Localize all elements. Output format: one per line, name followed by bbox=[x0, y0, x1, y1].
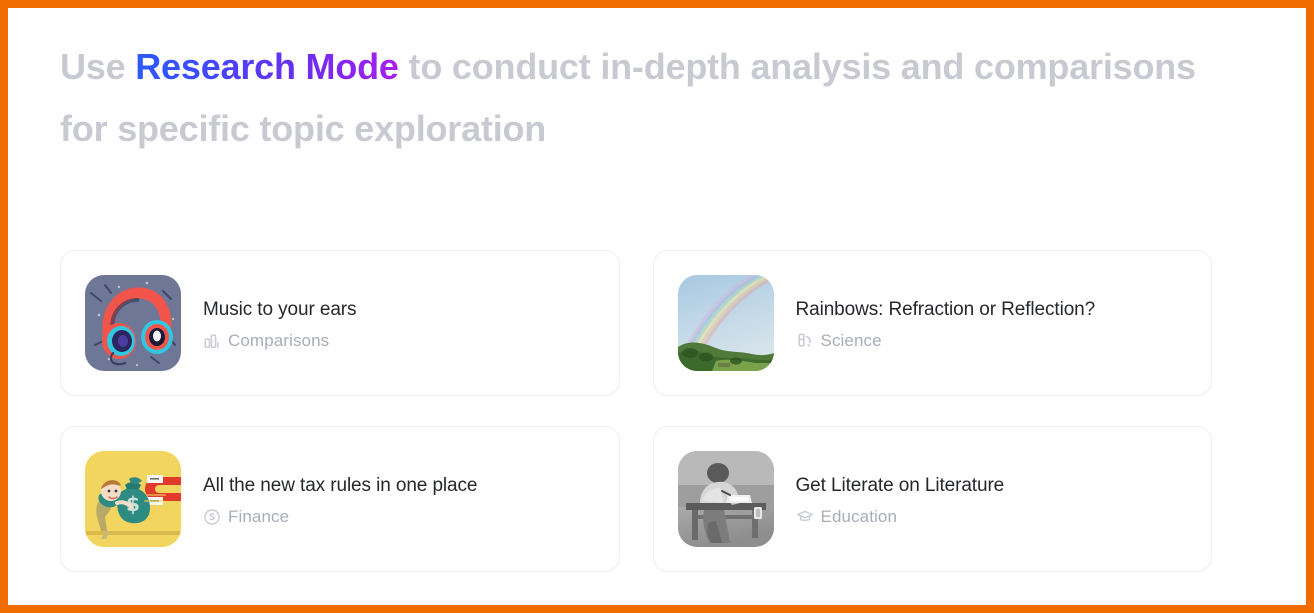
card-title: Music to your ears bbox=[203, 295, 356, 325]
card-text-block: Music to your ears Comparisons bbox=[203, 295, 356, 352]
card-category-label: Education bbox=[821, 506, 898, 528]
card-meta: Education bbox=[796, 506, 1005, 528]
card-category-label: Comparisons bbox=[228, 330, 329, 352]
headphones-illustration-thumbnail bbox=[85, 275, 181, 371]
suggestion-card-rainbows[interactable]: Rainbows: Refraction or Reflection? Scie… bbox=[653, 250, 1213, 396]
dollar-circle-icon bbox=[203, 508, 221, 526]
page-title: Use Research Mode to conduct in-depth an… bbox=[60, 36, 1220, 160]
graduation-cap-icon bbox=[796, 508, 814, 526]
card-meta: Science bbox=[796, 330, 1096, 352]
headline-prefix: Use bbox=[60, 46, 135, 87]
card-category-label: Finance bbox=[228, 506, 289, 528]
card-title: Get Literate on Literature bbox=[796, 471, 1005, 501]
research-mode-panel: Use Research Mode to conduct in-depth an… bbox=[8, 8, 1306, 605]
microscope-icon bbox=[796, 332, 814, 350]
headline-accent: Research Mode bbox=[135, 46, 399, 87]
money-magnet-illustration-thumbnail: $ bbox=[85, 451, 181, 547]
bar-chart-icon bbox=[203, 332, 221, 350]
card-text-block: All the new tax rules in one place Finan… bbox=[203, 471, 477, 528]
card-meta: Comparisons bbox=[203, 330, 356, 352]
suggestion-card-grid: Music to your ears Comparisons bbox=[60, 250, 1212, 572]
card-category-label: Science bbox=[821, 330, 882, 352]
card-title: All the new tax rules in one place bbox=[203, 471, 477, 501]
suggestion-card-literature[interactable]: Get Literate on Literature Education bbox=[653, 426, 1213, 572]
card-text-block: Rainbows: Refraction or Reflection? Scie… bbox=[796, 295, 1096, 352]
card-title: Rainbows: Refraction or Reflection? bbox=[796, 295, 1096, 325]
card-meta: Finance bbox=[203, 506, 477, 528]
screenshot-frame: Use Research Mode to conduct in-depth an… bbox=[0, 0, 1314, 613]
rainbow-photo-thumbnail bbox=[678, 275, 774, 371]
writer-photo-thumbnail bbox=[678, 451, 774, 547]
card-text-block: Get Literate on Literature Education bbox=[796, 471, 1005, 528]
suggestion-card-music[interactable]: Music to your ears Comparisons bbox=[60, 250, 620, 396]
suggestion-card-tax-rules[interactable]: $ bbox=[60, 426, 620, 572]
